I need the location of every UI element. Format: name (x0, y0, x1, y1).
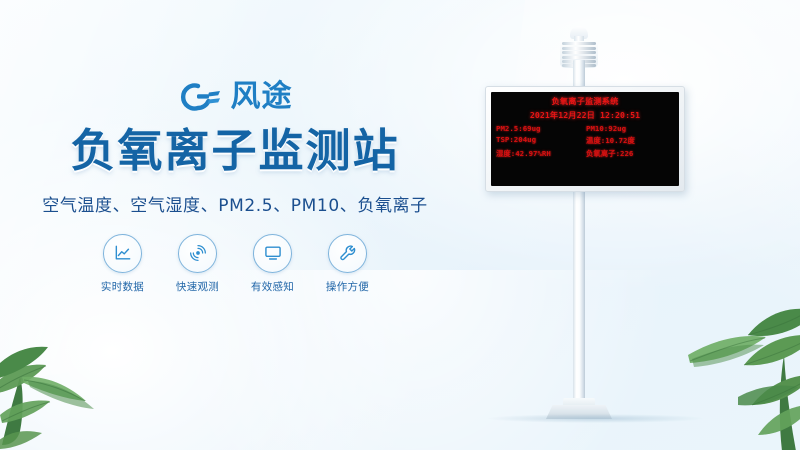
led-reading-humidity: 湿度:42.97%RH (496, 148, 584, 159)
led-screen: 负氧离子监测系统 2021年12月22日 12:20:51 PM2.5:69ug… (491, 92, 679, 186)
page-subtitle: 空气温度、空气湿度、PM2.5、PM10、负氧离子 (0, 191, 470, 216)
radar-wave-icon (178, 234, 217, 273)
line-chart-icon (103, 234, 142, 273)
led-reading-temperature: 温度:10.72度 (586, 135, 674, 146)
feature-item: 实时数据 (95, 234, 150, 294)
wrench-icon (328, 234, 367, 273)
led-reading-negative-ion: 负氧离子:226 (586, 148, 674, 159)
led-datetime: 2021年12月22日 12:20:51 (491, 109, 679, 121)
feature-label: 实时数据 (95, 279, 150, 294)
led-reading-pm10: PM10:92ug (586, 124, 674, 133)
fengtu-g-mark-icon (178, 80, 222, 114)
page-title: 负氧离子监测站 (0, 127, 470, 176)
feature-item: 操作方便 (320, 234, 375, 294)
led-readings: PM2.5:69ug PM10:92ug TSP:204ug 温度:10.72度… (491, 124, 679, 159)
monitor-icon (253, 234, 292, 273)
hero-text-block: 风途 负氧离子监测站 空气温度、空气湿度、PM2.5、PM10、负氧离子 实时数… (0, 74, 470, 294)
feature-label: 操作方便 (320, 279, 375, 294)
feature-label: 有效感知 (245, 279, 300, 294)
ground-shadow (488, 414, 703, 423)
led-display-panel: 负氧离子监测系统 2021年12月22日 12:20:51 PM2.5:69ug… (485, 86, 685, 192)
led-reading-pm25: PM2.5:69ug (496, 124, 584, 133)
led-title: 负氧离子监测系统 (491, 95, 679, 107)
feature-label: 快速观测 (170, 279, 225, 294)
green-leaf-plant-icon (0, 319, 114, 450)
poster-canvas: 风途 负氧离子监测站 空气温度、空气湿度、PM2.5、PM10、负氧离子 实时数… (0, 0, 800, 450)
green-leaf-plant-icon (678, 279, 800, 450)
brand-logo: 风途 (0, 74, 470, 120)
led-reading-tsp: TSP:204ug (496, 135, 584, 146)
feature-list: 实时数据 快速观测 (0, 234, 470, 294)
feature-item: 快速观测 (170, 234, 225, 294)
brand-name: 风途 (231, 82, 293, 112)
feature-item: 有效感知 (245, 234, 300, 294)
